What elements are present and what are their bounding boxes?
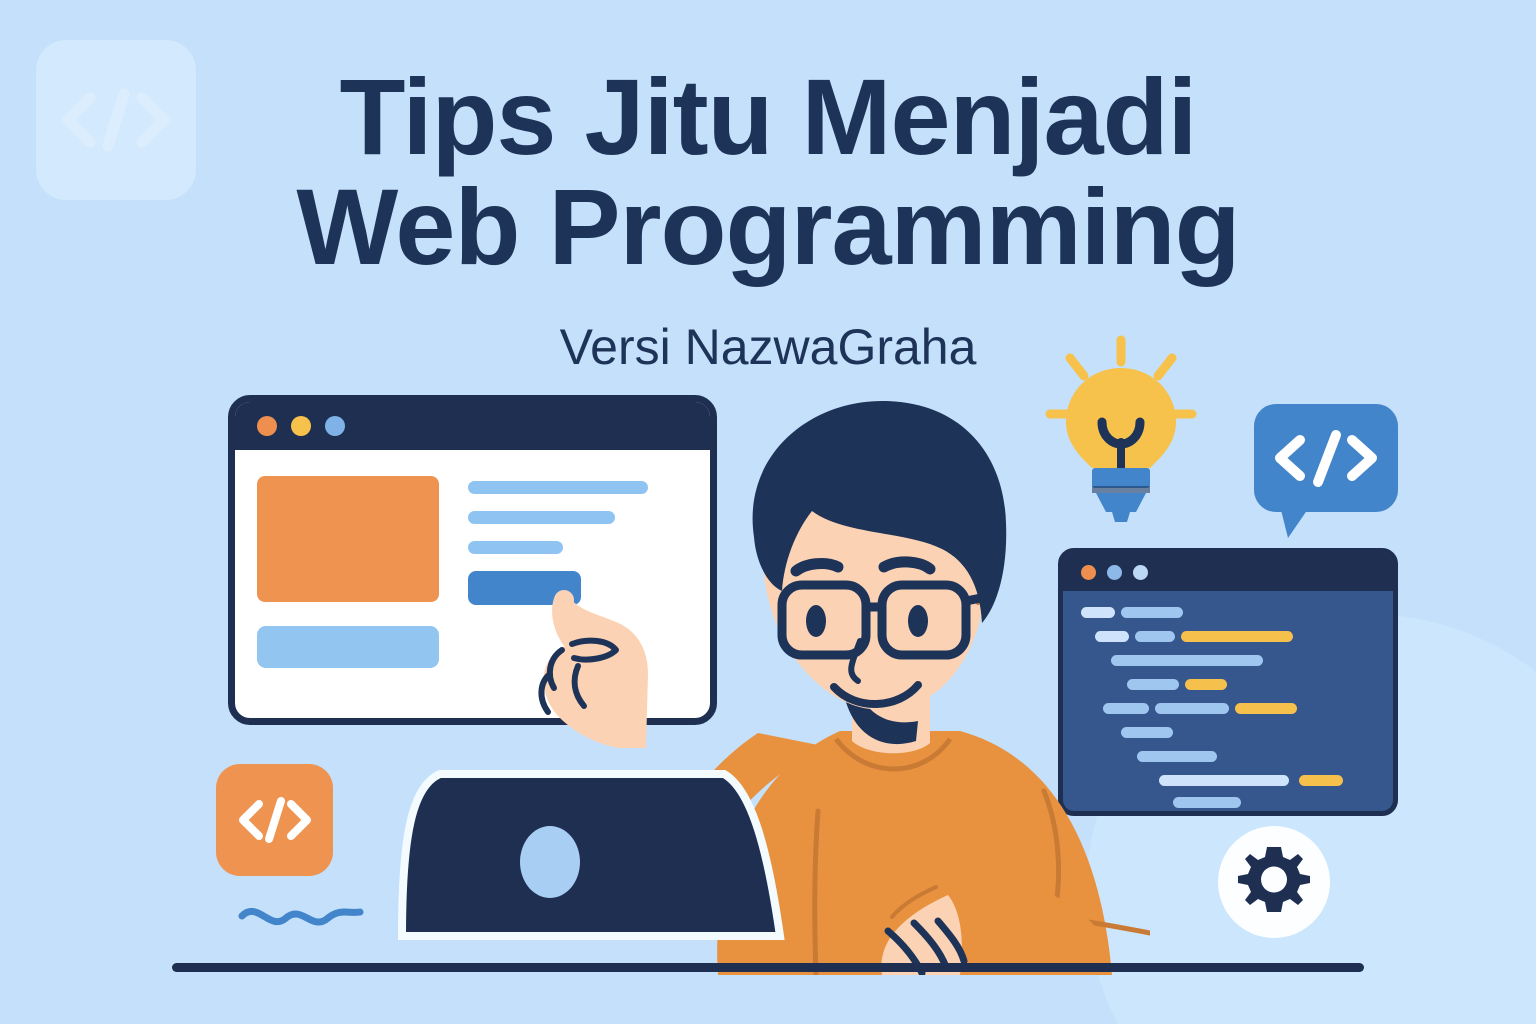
- text-line-2: [468, 511, 615, 524]
- code-line-segment: [1155, 703, 1229, 714]
- pointing-hand: [516, 578, 656, 778]
- window-dot-yellow[interactable]: [291, 416, 311, 436]
- code-badge-icon: [216, 764, 333, 876]
- page-subtitle: Versi NazwaGraha: [0, 318, 1536, 376]
- window-dot-blue[interactable]: [325, 416, 345, 436]
- code-line-segment: [1159, 775, 1289, 786]
- hero-image-placeholder: [257, 476, 439, 602]
- code-line-segment: [1299, 775, 1343, 786]
- window-dot-orange[interactable]: [257, 416, 277, 436]
- text-line-1: [468, 481, 648, 494]
- footer-bar-placeholder: [257, 626, 439, 668]
- code-speech-bubble-icon: [1252, 402, 1400, 542]
- illustration-canvas: Tips Jitu Menjadi Web Programming Versi …: [0, 0, 1536, 1024]
- page-title: Tips Jitu Menjadi Web Programming: [0, 62, 1536, 282]
- code-line-segment: [1235, 703, 1297, 714]
- laptop: [368, 756, 848, 968]
- title-line-2: Web Programming: [0, 172, 1536, 282]
- code-line-segment: [1185, 679, 1227, 690]
- gear-icon[interactable]: [1218, 826, 1330, 938]
- desk-line: [172, 963, 1364, 972]
- title-line-1: Tips Jitu Menjadi: [0, 62, 1536, 172]
- code-line-segment: [1181, 631, 1293, 642]
- code-line-segment: [1173, 797, 1241, 808]
- squiggle-decoration: [236, 898, 366, 936]
- text-line-3: [468, 541, 563, 554]
